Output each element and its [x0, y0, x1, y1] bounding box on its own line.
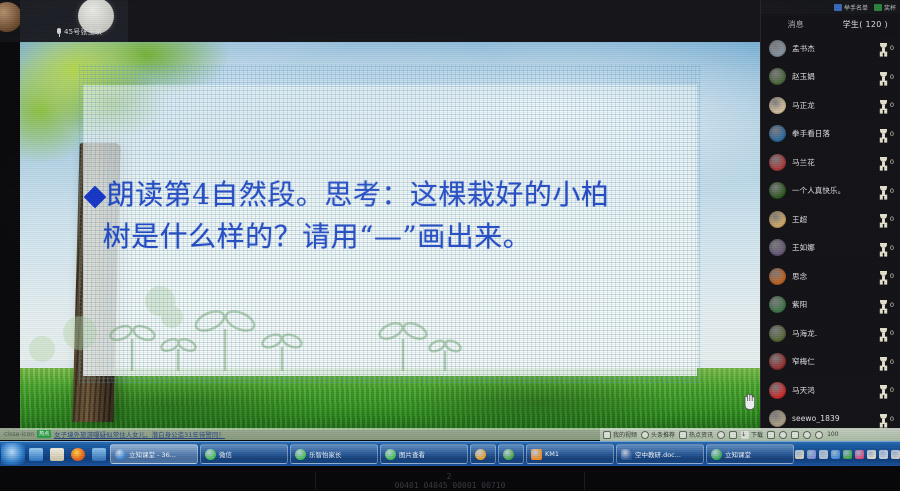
video-tile-active[interactable]: 45号张玉琪: [20, 0, 128, 42]
taskbar-window-wechat[interactable]: 图片查看: [380, 444, 468, 464]
trophy-icon: [879, 414, 888, 424]
trophy-icon: [879, 100, 888, 110]
diamond-bullet-icon: [83, 186, 106, 209]
taskbar-window-lizhi[interactable]: 立知课堂: [706, 444, 794, 464]
browser-window[interactable]: [791, 431, 799, 439]
trophy-icon: [879, 43, 888, 53]
download-icon: ↓: [741, 431, 749, 439]
taskbar-window-buttons: 立知课堂 - 36...微信乐智怡家长图片查看KM1空中教研.doc...立知课…: [109, 444, 795, 464]
student-row[interactable]: 马天鸿0: [761, 376, 900, 405]
student-trophy-count[interactable]: 0: [879, 414, 894, 424]
student-name: 马正龙: [792, 100, 879, 111]
video-tile-nameplate: 45号张玉琪: [56, 27, 102, 37]
task-list-icon: [92, 448, 106, 461]
trophy-count-label: 0: [890, 73, 894, 81]
tray-icon-group: [795, 450, 900, 459]
student-trophy-count[interactable]: 0: [879, 129, 894, 139]
browser-my-video-label: 我的视频: [613, 430, 637, 439]
globe-icon[interactable]: [831, 450, 840, 459]
avatar: [769, 68, 786, 85]
student-row[interactable]: 王如娜0: [761, 234, 900, 263]
browser-bottom-toolbar: 我的视频 头条推荐 热点资讯 ↓ 下载: [600, 428, 900, 441]
trophy-count-label: 0: [890, 158, 894, 166]
taskbar-window-label: 图片查看: [399, 449, 425, 459]
windows-taskbar: 立知课堂 - 36...微信乐智怡家长图片查看KM1空中教研.doc...立知课…: [0, 441, 900, 466]
panel-tabs: 消息 学生( 120 ): [761, 15, 900, 33]
student-list[interactable]: 孟书杰0赵玉娟0马正龙0拳手看日落0马兰花0一个人真快乐。0王超0王如娜0思念0…: [761, 34, 900, 437]
trophy-icon: [879, 243, 888, 253]
microphone-icon: [56, 28, 62, 37]
student-trophy-count[interactable]: 0: [879, 271, 894, 281]
browser-shield[interactable]: [779, 431, 787, 439]
student-name: 孟书杰: [792, 43, 879, 54]
avatar: [0, 2, 22, 32]
window-icon: [791, 431, 799, 439]
student-trophy-count[interactable]: 0: [879, 214, 894, 224]
student-row[interactable]: 赵玉娟0: [761, 63, 900, 92]
avatar: [769, 182, 786, 199]
trophy-icon: [879, 129, 888, 139]
firefox-icon: [71, 448, 85, 461]
video-icon: [603, 431, 611, 439]
monitor-bezel: 2 00401 04045 00001 00710: [0, 466, 900, 491]
trophy-count-label: 0: [890, 44, 894, 52]
trophy-icon: [879, 328, 888, 338]
trophy-icon: [879, 157, 888, 167]
taskbar-window-wechat[interactable]: 微信: [200, 444, 288, 464]
student-row[interactable]: 紫阳0: [761, 291, 900, 320]
quick-launch-task-list[interactable]: [88, 444, 109, 465]
sync-icon[interactable]: [819, 450, 828, 459]
news-icon: [679, 431, 687, 439]
taskbar-window-label: 乐智怡家长: [309, 449, 342, 459]
student-row[interactable]: 拳手看日落0: [761, 120, 900, 149]
student-trophy-count[interactable]: 0: [879, 43, 894, 53]
student-row[interactable]: 窄梅仁0: [761, 348, 900, 377]
clock-icon[interactable]: [807, 450, 816, 459]
trophy-count-label: 0: [890, 329, 894, 337]
raise-hand-chip[interactable]: 举手名单: [834, 3, 868, 12]
slide-body-text: 朗读第4自然段。思考：这棵栽好的小柏 树是什么样的？请用“—”画出来。: [87, 174, 709, 258]
system-tray: 10:44 2020/4/3: [795, 442, 900, 466]
taskbar-window-label: 立知课堂: [725, 449, 751, 459]
shield-icon: [779, 431, 787, 439]
show-desktop-icon: [29, 448, 43, 461]
search-icon: [815, 431, 823, 439]
start-button[interactable]: [1, 443, 25, 465]
readout-line-2: 00401 04045 00001 00710: [316, 481, 584, 490]
student-row[interactable]: 一个人真快乐。0: [761, 177, 900, 206]
video-tile-label: 45号张玉琪: [64, 27, 102, 37]
trophy-count-label: 0: [890, 244, 894, 252]
browser-zoom-level[interactable]: 100: [827, 431, 838, 438]
student-trophy-count[interactable]: 0: [879, 300, 894, 310]
browser-search[interactable]: [815, 431, 823, 439]
trophy-count-label: 0: [890, 130, 894, 138]
student-trophy-count[interactable]: 0: [879, 186, 894, 196]
student-name: seewo_1839: [792, 414, 879, 423]
cursor-icon: [531, 449, 542, 460]
volume-icon: [803, 431, 811, 439]
raise-hand-label: 举手名单: [844, 3, 868, 12]
avatar: [769, 154, 786, 171]
avatar: [769, 325, 786, 342]
quick-launch-show-desktop[interactable]: [25, 444, 46, 465]
student-name: 思念: [792, 271, 879, 282]
avatar: [769, 382, 786, 399]
tab-students[interactable]: 学生( 120 ): [831, 19, 900, 30]
trophy-icon: [879, 214, 888, 224]
browser-download-label: 下载: [751, 430, 763, 439]
monitor-photo-screen: 45号张玉琪: [0, 0, 900, 491]
student-trophy-count[interactable]: 0: [879, 72, 894, 82]
browser-screenshot[interactable]: [729, 431, 737, 439]
avatar: [769, 97, 786, 114]
taskbar-window-label: 立知课堂 - 36...: [129, 449, 176, 459]
quick-launch-firefox[interactable]: [67, 444, 88, 465]
presentation-slide[interactable]: 朗读第4自然段。思考：这棵栽好的小柏 树是什么样的？请用“—”画出来。: [20, 42, 760, 430]
student-name: 王如娜: [792, 242, 879, 253]
ticker-headline[interactable]: 女子境外旅游曝疑似常住人女儿，潜白身公造31年待警同！: [54, 429, 225, 439]
browser-hot-news-label: 热点资讯: [689, 430, 713, 439]
close-icon[interactable]: close-icon: [4, 431, 34, 438]
trophy-count-label: 0: [890, 358, 894, 366]
trophy-chip-label: 奖杯: [884, 3, 896, 12]
taskbar-window-label: 微信: [219, 449, 232, 459]
wechat-icon: [385, 449, 396, 460]
taskbar-window-label: 空中教研.doc...: [635, 449, 681, 459]
word-icon: [621, 449, 632, 460]
student-name: 赵玉娟: [792, 71, 879, 82]
shield-green-icon[interactable]: [843, 450, 852, 459]
taskbar-window-wechat[interactable]: 乐智怡家长: [290, 444, 378, 464]
browser-headlines-label: 头条推荐: [651, 430, 675, 439]
browser-flag[interactable]: [767, 431, 775, 439]
student-row[interactable]: 王超0: [761, 205, 900, 234]
trophy-icon: [879, 357, 888, 367]
monitor-icon[interactable]: [867, 450, 876, 459]
avatar: [769, 239, 786, 256]
bluetooth-icon[interactable]: [879, 450, 888, 459]
raise-hand-icon: [834, 4, 842, 11]
student-name: 马兰花: [792, 157, 879, 168]
taskbar-window-cursor[interactable]: KM1: [526, 444, 614, 464]
student-trophy-count[interactable]: 0: [879, 357, 894, 367]
taskbar-window-ie[interactable]: 立知课堂 - 36...: [110, 444, 198, 464]
trophy-icon: [874, 4, 882, 11]
class-side-panel: 举手名单 奖杯 消息 学生( 120 ) 孟书杰0赵玉娟0马正龙0拳手看日落0马…: [760, 0, 900, 437]
student-name: 一个人真快乐。: [792, 185, 879, 196]
trophy-count-label: 0: [890, 215, 894, 223]
student-name: 紫阳: [792, 299, 879, 310]
trophy-chip[interactable]: 奖杯: [874, 3, 896, 12]
trophy-icon: [879, 300, 888, 310]
taskbar-window-chrome[interactable]: [470, 444, 496, 464]
trophy-count-label: 0: [890, 415, 894, 423]
student-trophy-count[interactable]: 0: [879, 243, 894, 253]
student-name: 马海龙.: [792, 328, 879, 339]
student-row[interactable]: 马海龙.0: [761, 319, 900, 348]
slide-text-line-1: 朗读第4自然段。思考：这棵栽好的小柏: [107, 178, 610, 211]
avatar: [769, 125, 786, 142]
browser-hot-news[interactable]: 热点资讯: [679, 430, 713, 439]
avatar: [769, 40, 786, 57]
trophy-icon: [879, 72, 888, 82]
screenshot-icon: [729, 431, 737, 439]
student-row[interactable]: 思念0: [761, 262, 900, 291]
news-ticker-bar[interactable]: close-icon 热点 女子境外旅游曝疑似常住人女儿，潜白身公造31年待警同…: [0, 428, 600, 440]
tab-messages[interactable]: 消息: [761, 19, 831, 30]
student-row[interactable]: 马兰花0: [761, 148, 900, 177]
avatar: [769, 410, 786, 427]
quick-launch-news-reader[interactable]: [46, 444, 67, 465]
browser-my-video[interactable]: 我的视频: [603, 430, 637, 439]
wechat-icon: [295, 449, 306, 460]
colorful-icon[interactable]: [855, 450, 864, 459]
student-name: 窄梅仁: [792, 356, 879, 367]
refresh-icon: [717, 431, 725, 439]
news-reader-icon: [50, 448, 64, 461]
desk-readout: 2 00401 04045 00001 00710: [315, 472, 585, 490]
student-name: 拳手看日落: [792, 128, 879, 139]
slide-grass-background: [20, 368, 760, 430]
ticker-badge: 热点: [37, 430, 51, 438]
media-play-icon: [503, 449, 514, 460]
video-tile-empty[interactable]: [128, 0, 760, 42]
student-row[interactable]: 孟书杰0: [761, 34, 900, 63]
network-icon[interactable]: [891, 450, 900, 459]
readout-line-1: 2: [316, 472, 584, 481]
lizhi-icon: [711, 449, 722, 460]
trophy-count-label: 0: [890, 101, 894, 109]
taskbar-window-label: KM1: [545, 450, 559, 458]
student-trophy-count[interactable]: 0: [879, 100, 894, 110]
video-tile-partial[interactable]: [0, 0, 20, 42]
play-icon: [641, 431, 649, 439]
browser-volume[interactable]: [803, 431, 811, 439]
trophy-count-label: 0: [890, 386, 894, 394]
browser-download[interactable]: ↓ 下载: [741, 430, 763, 439]
trophy-icon: [879, 385, 888, 395]
slide-sprout-decorations: [20, 267, 760, 376]
avatar: [769, 268, 786, 285]
avatar: [769, 211, 786, 228]
student-name: 马天鸿: [792, 385, 879, 396]
student-trophy-count[interactable]: 0: [879, 385, 894, 395]
video-participant-strip: 45号张玉琪: [0, 0, 760, 42]
slide-text-line-2: 树是什么样的？请用“—”画出来。: [103, 216, 709, 258]
student-row[interactable]: 马正龙0: [761, 91, 900, 120]
browser-refresh[interactable]: [717, 431, 725, 439]
trophy-count-label: 0: [890, 272, 894, 280]
browser-headlines[interactable]: 头条推荐: [641, 430, 675, 439]
trophy-icon: [879, 186, 888, 196]
ie-icon: [115, 449, 126, 460]
wechat-icon: [205, 449, 216, 460]
avatar: [769, 296, 786, 313]
trophy-count-label: 0: [890, 187, 894, 195]
taskbar-window-word[interactable]: 空中教研.doc...: [616, 444, 704, 464]
hand-cursor-icon: [741, 392, 757, 410]
flag-icon: [767, 431, 775, 439]
panel-top-controls: 举手名单 奖杯: [761, 0, 900, 14]
trophy-count-label: 0: [890, 301, 894, 309]
avatar: [769, 353, 786, 370]
student-trophy-count[interactable]: 0: [879, 157, 894, 167]
briefcase-icon[interactable]: [795, 450, 804, 459]
taskbar-window-media-play[interactable]: [498, 444, 524, 464]
trophy-icon: [879, 271, 888, 281]
student-name: 王超: [792, 214, 879, 225]
student-trophy-count[interactable]: 0: [879, 328, 894, 338]
chrome-icon: [475, 449, 486, 460]
